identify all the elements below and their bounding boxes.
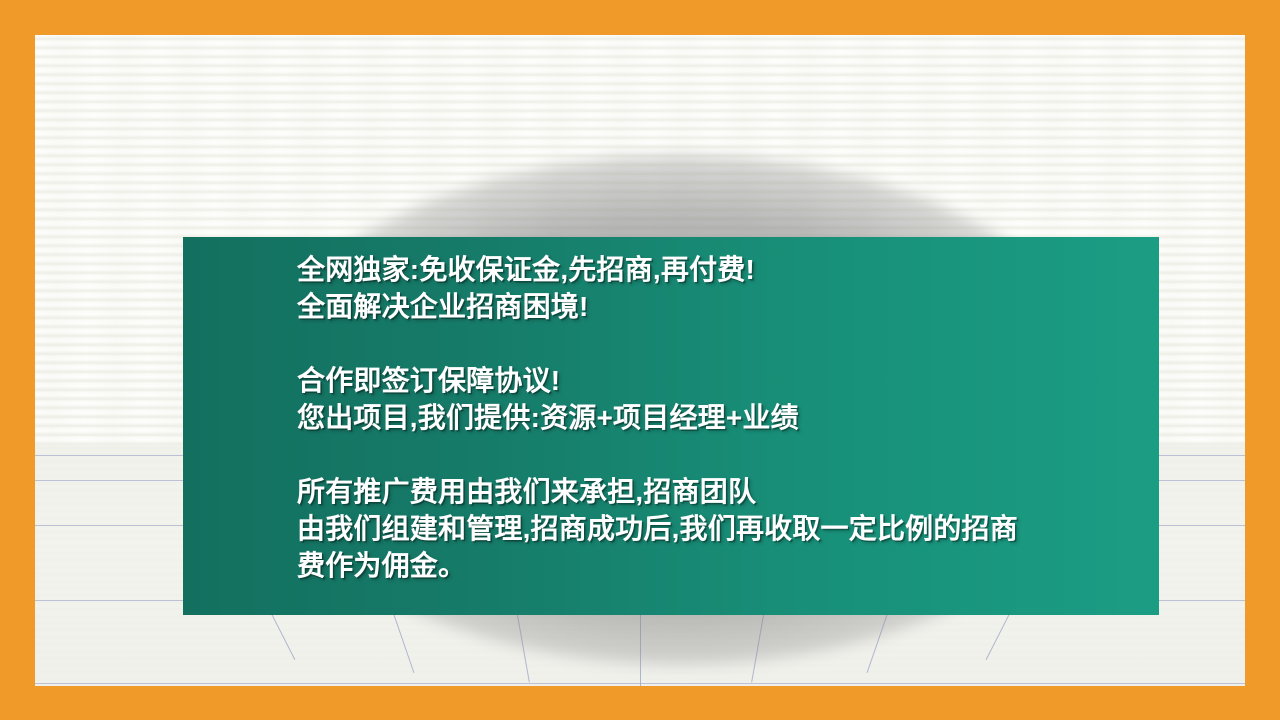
promo-line-blank-1 (297, 325, 1159, 362)
promo-line-7: 费作为佣金。 (297, 547, 1159, 584)
promo-line-5: 所有推广费用由我们来承担,招商团队 (297, 473, 1159, 510)
promo-line-6: 由我们组建和管理,招商成功后,我们再收取一定比例的招商 (297, 510, 1159, 547)
promo-message-panel: 全网独家:免收保证金,先招商,再付费! 全面解决企业招商困境! 合作即签订保障协… (183, 237, 1159, 615)
promo-line-3: 合作即签订保障协议! (297, 362, 1159, 399)
slide-canvas: 全网独家:免收保证金,先招商,再付费! 全面解决企业招商困境! 合作即签订保障协… (0, 0, 1280, 720)
room-scene: 全网独家:免收保证金,先招商,再付费! 全面解决企业招商困境! 合作即签订保障协… (35, 35, 1245, 686)
promo-line-1: 全网独家:免收保证金,先招商,再付费! (297, 251, 1159, 288)
promo-line-2: 全面解决企业招商困境! (297, 288, 1159, 325)
promo-line-blank-2 (297, 436, 1159, 473)
promo-line-4: 您出项目,我们提供:资源+项目经理+业绩 (297, 399, 1159, 436)
